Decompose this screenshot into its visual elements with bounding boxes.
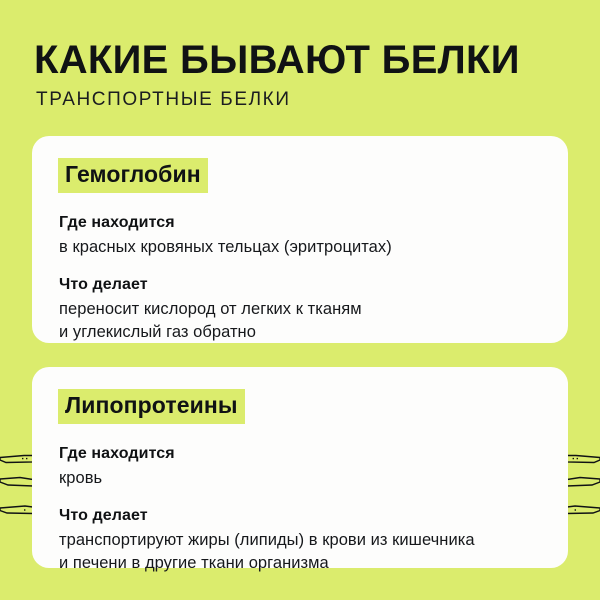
protein-card-lipoproteins: Липопротеины Где находится кровь Что дел… <box>32 367 568 568</box>
speed-line-mark-icon <box>0 475 34 494</box>
decoration-group-left <box>0 0 34 600</box>
field-label: Где находится <box>59 443 542 465</box>
speed-line-mark-icon <box>0 452 34 471</box>
poster-root: КАКИЕ БЫВАЮТ БЕЛКИ ТРАНСПОРТНЫЕ БЕЛКИ Ге… <box>0 0 600 600</box>
field-value: в красных кровяных тельцах (эритроцитах) <box>59 236 542 259</box>
card-field-location: Где находится в красных кровяных тельцах… <box>58 212 542 259</box>
card-field-location: Где находится кровь <box>58 443 542 490</box>
field-value: транспортируют жиры (липиды) в крови из … <box>59 529 542 575</box>
card-field-function: Что делает транспортируют жиры (липиды) … <box>58 505 542 575</box>
field-label: Что делает <box>59 505 542 527</box>
page-title: КАКИЕ БЫВАЮТ БЕЛКИ <box>34 38 574 82</box>
card-heading: Гемоглобин <box>58 158 208 193</box>
field-value: кровь <box>59 467 542 490</box>
field-label: Где находится <box>59 212 542 234</box>
speed-line-mark-icon <box>566 475 600 494</box>
speed-line-mark-icon <box>0 503 34 522</box>
speed-line-mark-icon <box>566 452 600 471</box>
card-heading: Липопротеины <box>58 389 245 424</box>
speed-line-mark-icon <box>566 503 600 522</box>
poster-header: КАКИЕ БЫВАЮТ БЕЛКИ ТРАНСПОРТНЫЕ БЕЛКИ <box>34 38 574 112</box>
field-value: переносит кислород от легких к тканям и … <box>59 298 542 344</box>
card-field-function: Что делает переносит кислород от легких … <box>58 274 542 344</box>
field-label: Что делает <box>59 274 542 296</box>
page-subtitle: ТРАНСПОРТНЫЕ БЕЛКИ <box>36 88 574 112</box>
protein-card-hemoglobin: Гемоглобин Где находится в красных кровя… <box>32 136 568 343</box>
